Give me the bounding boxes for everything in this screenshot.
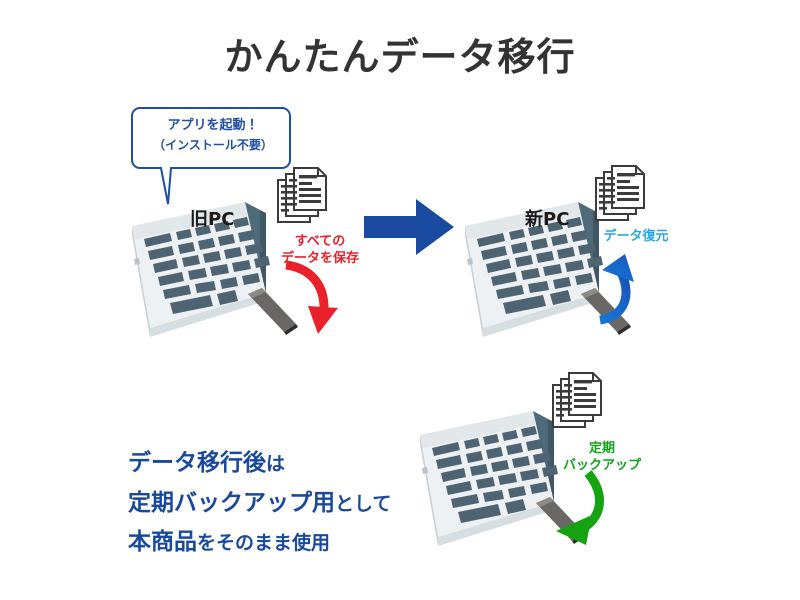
green-curve-down-arrow-icon — [542, 471, 612, 549]
speech-bubble-tail-icon — [150, 166, 184, 206]
red-curve-down-arrow-icon — [280, 262, 338, 340]
infographic-canvas: かんたんデータ移行 アプリを起動！ （インストール不要） — [0, 0, 800, 600]
bottom-line1-suffix: は — [266, 453, 285, 475]
speech-bubble-line2: （インストール不要） — [133, 136, 293, 155]
save-caption-line2: データを保存 — [261, 251, 379, 268]
speech-bubble-text: アプリを起動！ （インストール不要） — [133, 116, 293, 155]
speech-bubble: アプリを起動！ （インストール不要） — [131, 107, 291, 169]
old-pc-label: 旧PC — [190, 205, 234, 231]
bottom-headline-line3: 本商品をそのまま使用 — [128, 523, 391, 563]
data-restore-caption: データ復元 — [588, 229, 684, 246]
page-title: かんたんデータ移行 — [0, 26, 800, 81]
documents-stack-icon-new — [595, 165, 657, 227]
bottom-headline-line2: 定期バックアップ用として — [128, 484, 391, 524]
bottom-headline: データ移行後は 定期バックアップ用として 本商品をそのまま使用 — [128, 444, 391, 563]
bottom-line3-suffix: をそのまま使用 — [197, 532, 330, 554]
new-pc-label: 新PC — [525, 205, 569, 231]
bottom-line2-suffix: として — [335, 493, 391, 515]
bottom-headline-line1: データ移行後は — [128, 444, 391, 484]
speech-bubble-line1: アプリを起動！ — [167, 118, 258, 133]
backup-caption-line2: バックアップ — [543, 458, 661, 475]
blue-curve-up-arrow-icon — [586, 252, 644, 324]
save-caption-line1: すべての — [261, 234, 379, 251]
documents-stack-icon-backup — [552, 372, 614, 434]
bottom-line3-main: 本商品 — [128, 529, 197, 555]
save-all-data-caption: すべての データを保存 — [261, 234, 379, 268]
backup-caption-line1: 定期 — [543, 441, 661, 458]
bottom-line1-main: データ移行後 — [128, 450, 266, 476]
periodic-backup-caption: 定期 バックアップ — [543, 441, 661, 475]
documents-stack-icon-old — [277, 167, 339, 229]
restore-caption-line1: データ復元 — [588, 229, 684, 246]
bottom-line2-main: 定期バックアップ用 — [128, 490, 335, 516]
